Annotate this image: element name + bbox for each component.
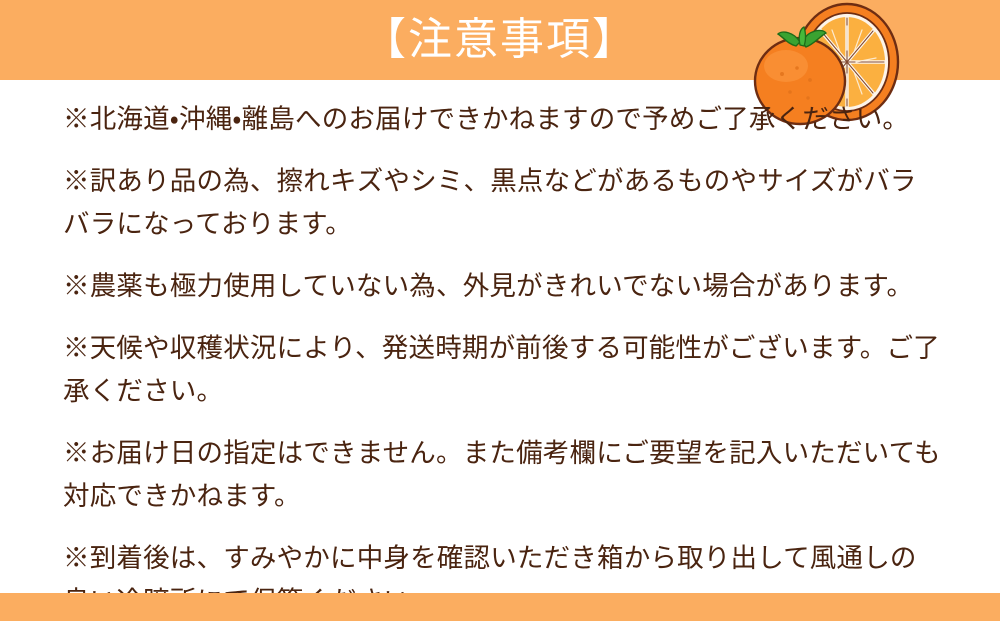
note-item: ※お届け日の指定はできません。また備考欄にご要望を記入いただいても対応できかねま… bbox=[63, 432, 943, 518]
notes-list: ※北海道・沖縄・離島へのお届けできかねますので予めご了承ください。 ※訳あり品の… bbox=[63, 98, 943, 621]
notice-card: 【注意事項】 bbox=[0, 0, 1000, 621]
note-item: ※農薬も極力使用していない為、外見がきれいでない場合があります。 bbox=[63, 265, 943, 308]
note-item: ※北海道・沖縄・離島へのお届けできかねますので予めご了承ください。 bbox=[63, 98, 943, 141]
note-item: ※訳あり品の為、擦れキズやシミ、黒点などがあるものやサイズがバラバラになっており… bbox=[63, 160, 943, 246]
footer-band bbox=[0, 593, 1000, 621]
page-title: 【注意事項】 bbox=[0, 0, 1000, 80]
note-item: ※天候や収穫状況により、発送時期が前後する可能性がございます。ご了承ください。 bbox=[63, 327, 943, 413]
